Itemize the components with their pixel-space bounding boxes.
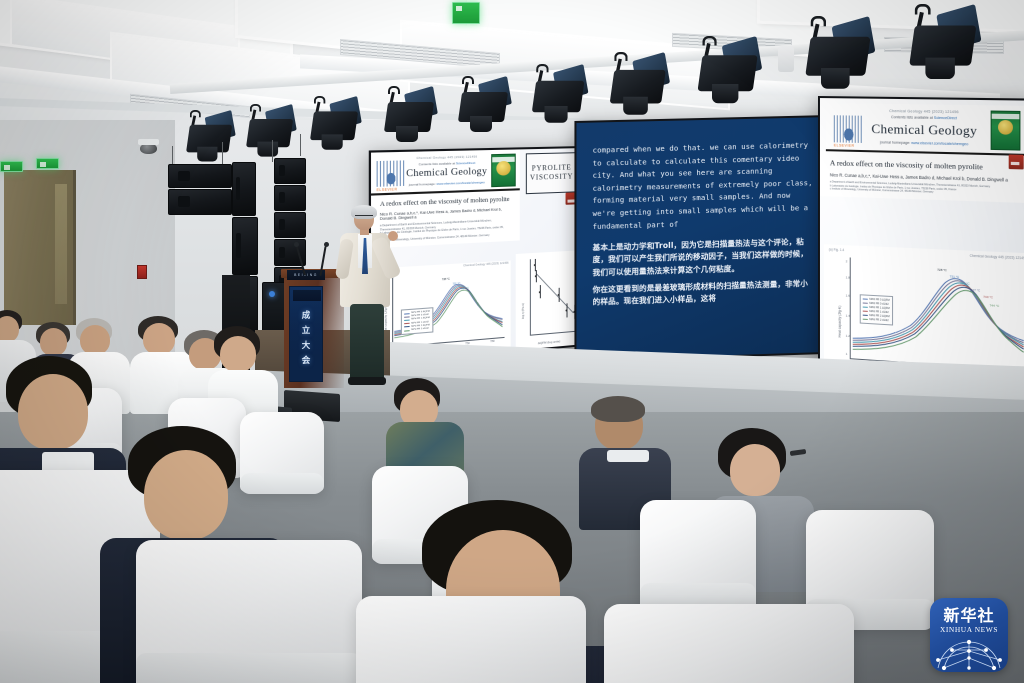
exit-sign-ceiling — [452, 2, 480, 24]
slide-right-content: ELSEVIER Chemical Geology 445 (2023) 121… — [820, 98, 1024, 395]
podium-banner: 成 立 大 会 — [289, 286, 323, 382]
x-tick: 750 — [465, 342, 470, 346]
journal-homepage-link[interactable]: www.elsevier.com/locate/chemgeo — [911, 141, 968, 146]
banner-char: 立 — [290, 324, 322, 339]
exit-sign — [36, 158, 59, 169]
peak-annotation: 744 °C — [990, 303, 1000, 308]
x-tick: 690 — [414, 346, 419, 350]
y-tick: 1 — [846, 352, 848, 356]
peak-annotation: 728 °C — [937, 268, 947, 273]
network-globe-icon — [930, 638, 1008, 672]
banner-char: 会 — [290, 354, 322, 369]
paper-header-right: A redox effect on the viscosity of molte… — [820, 151, 1024, 203]
y-tick: 1.4 — [846, 314, 850, 318]
pyrolite-viscosity-title-card: PYROLITE VISCOSITY — [526, 152, 577, 194]
door-glass — [55, 184, 67, 304]
x-tick: 730 — [440, 344, 445, 348]
speaker-rigging-wire — [300, 134, 301, 156]
elsevier-logo: ELSEVIER — [834, 115, 864, 150]
banner-logo — [293, 290, 321, 301]
dome-camera-icon — [140, 143, 157, 154]
paper-title: A redox effect on the viscosity of molte… — [380, 196, 512, 208]
dsc-legend: NiPd FR 0 ΔQFM NiPd FR 0 d1/d2 NiPd FR 1… — [401, 307, 433, 335]
visc-card-line2: VISCOSITY — [530, 172, 573, 182]
banner-chinese-text: 成 立 大 会 — [290, 309, 322, 369]
microphone-head-icon — [294, 242, 299, 247]
elsevier-label: ELSEVIER — [834, 143, 864, 148]
peak-annotation: 731 °C — [453, 282, 461, 286]
audience-chair — [240, 412, 324, 492]
legend-label: NiPd FR 2 d1/d2 — [869, 318, 888, 322]
glasses-icon — [355, 215, 373, 219]
audience-chair — [356, 596, 586, 683]
projection-screen-caption: compared when we do that. we can use cal… — [574, 115, 829, 362]
podium: BEIJING 成 立 大 会 — [284, 274, 344, 388]
xinhua-news-watermark: 新华社 XINHUA NEWS — [930, 598, 1008, 672]
hall-door[interactable] — [4, 170, 76, 325]
projection-screen-right: ELSEVIER Chemical Geology 445 (2023) 121… — [818, 96, 1024, 397]
power-led-icon — [269, 291, 275, 297]
caption-english: compared when we do that. we can use cal… — [593, 139, 814, 233]
ceiling-projector-mount — [778, 46, 794, 72]
sciencedirect-link[interactable]: ScienceDirect — [456, 161, 475, 166]
watermark-chinese: 新华社 — [943, 607, 994, 624]
presenter-shoes — [348, 377, 386, 385]
trend-line — [530, 256, 581, 334]
slide-left-content: PYROLITE VISCOSITY ELSEVIER Chemical Geo… — [371, 148, 583, 363]
peak-annotation: 731 °C — [950, 274, 960, 279]
dsc-legend: NiPd FR 0 ΔQFM NiPd FR 0 d1/d2 NiPd FR 1… — [860, 294, 893, 325]
journal-homepage-link[interactable]: www.elsevier.com/locate/chemgeo — [437, 180, 485, 186]
presenter-legs — [350, 304, 384, 382]
journal-cover-thumb — [991, 111, 1021, 151]
viscosity-scatter-mini: ΔQFM (log units) log η (Pa·s) — [516, 250, 583, 352]
x-axis-title: Temperature (°C) — [425, 349, 450, 355]
caption-panel: compared when we do that. we can use cal… — [576, 117, 827, 360]
x-axis-title: Temperature (°C) — [904, 376, 932, 382]
speaker-rigging-wire — [222, 142, 223, 166]
audience-chair — [604, 604, 854, 683]
y-axis-title: Heat capacity (J/g·K) — [838, 305, 842, 337]
x-tick: 750 — [966, 377, 971, 382]
peak-annotation: 737 °C — [971, 288, 981, 293]
crossmark-icon — [1009, 154, 1024, 169]
error-bar — [540, 285, 541, 298]
x-tick: 730 — [933, 373, 938, 377]
journal-header-left: ELSEVIER Chemical Geology 445 (2023) 121… — [371, 149, 520, 195]
x-axis-title: ΔQFM (log units) — [538, 339, 560, 345]
y-tick: 1.8 — [846, 275, 850, 279]
microphone-head-icon — [324, 242, 329, 247]
conference-hall-photo: PYROLITE VISCOSITY ELSEVIER Chemical Geo… — [0, 0, 1024, 683]
error-bar — [559, 288, 560, 302]
chart-corner-citation: Chemical Geology 445 (2023) 121456 — [463, 262, 508, 268]
elsevier-logo: ELSEVIER — [377, 160, 406, 193]
audience-chair — [640, 500, 756, 610]
y-tick: 2 — [846, 259, 848, 263]
y-tick: 1.6 — [846, 293, 850, 297]
journal-header-right: ELSEVIER Chemical Geology 445 (2023) 121… — [826, 103, 1024, 156]
watermark-english: XINHUA NEWS — [940, 625, 998, 634]
journal-cover-thumb — [491, 154, 516, 188]
projection-screen-left: PYROLITE VISCOSITY ELSEVIER Chemical Geo… — [369, 146, 585, 366]
elsevier-label: ELSEVIER — [377, 187, 406, 192]
dsc-chart-main: (a) Fig. 1.4 Chemical Geology 445 (2023)… — [824, 244, 1024, 391]
y-tick: 1.2 — [846, 334, 850, 338]
presenter — [336, 207, 398, 385]
audience-chair — [136, 540, 362, 683]
paper-title: A redox effect on the viscosity of molte… — [830, 158, 1022, 172]
banner-char: 成 — [290, 309, 322, 324]
peak-annotation: 728 °C — [442, 278, 450, 282]
peak-annotation: 734 °C — [960, 281, 970, 286]
x-tick: 780 — [490, 340, 494, 343]
sciencedirect-link[interactable]: ScienceDirect — [934, 116, 957, 120]
chart-corner-citation: Chemical Geology 445 (2023) 121456 — [970, 254, 1024, 261]
error-bar — [567, 303, 568, 317]
peak-annotation: 740 °C — [983, 295, 993, 300]
caption-chinese-primary: 基本上是动力学和Troll，因为它是扫描量热法与这个评论，粘度，我们可以产生我们… — [593, 236, 814, 279]
speaker-rigging-wire — [272, 140, 273, 162]
caption-chinese-secondary: 你在这更看到的是最差玻璃形成材料的扫描量热法测量，非常小的样品。现在我们进入小样… — [593, 277, 814, 308]
x-tick: 690 — [904, 369, 909, 373]
legend-label: NiPd FR 2 d1/d2 — [411, 328, 428, 332]
glasses-icon — [790, 449, 807, 456]
chart-panel-label: (a) Fig. 1.4 — [829, 247, 844, 252]
y-axis-title: log η (Pa·s) — [521, 303, 525, 319]
presenter-hand — [388, 231, 398, 241]
banner-char: 大 — [290, 339, 322, 354]
peak-annotation: 734 °C — [461, 287, 469, 291]
x-tick: 780 — [1000, 382, 1005, 387]
x-tick: 650 — [848, 361, 853, 365]
x-tick: 670 — [876, 365, 881, 369]
error-bar — [536, 270, 537, 282]
fire-alarm-icon — [137, 265, 147, 279]
exit-sign — [0, 161, 23, 172]
